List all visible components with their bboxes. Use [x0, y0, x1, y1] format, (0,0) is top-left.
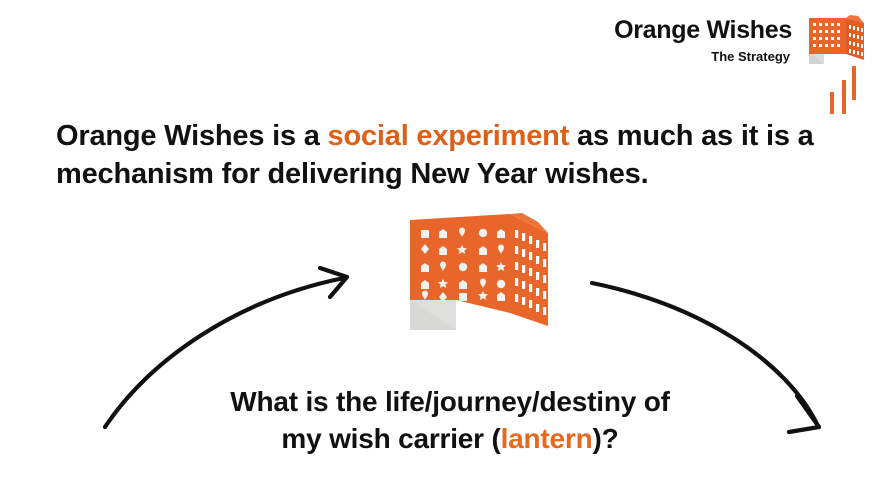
- question-text: What is the life/journey/destiny of my w…: [140, 383, 760, 457]
- lantern-illustration-icon: [398, 208, 563, 343]
- question-accent: lantern: [501, 423, 593, 454]
- lantern-logo-icon: [802, 8, 874, 118]
- question-line-2-pre: my wish carrier (: [281, 423, 500, 454]
- brand-block: Orange Wishes The Strategy: [614, 18, 792, 63]
- headline: Orange Wishes is a social experiment as …: [56, 118, 846, 193]
- slide-canvas: Orange Wishes The Strategy: [0, 0, 880, 495]
- question-line-2-post: )?: [593, 423, 619, 454]
- question-line-1: What is the life/journey/destiny of: [140, 383, 760, 420]
- question-line-2: my wish carrier (lantern)?: [140, 420, 760, 457]
- headline-part-1: Orange Wishes is a: [56, 120, 328, 152]
- brand-subtitle: The Strategy: [614, 50, 790, 63]
- headline-accent: social experiment: [328, 120, 570, 152]
- brand-title: Orange Wishes: [614, 18, 792, 43]
